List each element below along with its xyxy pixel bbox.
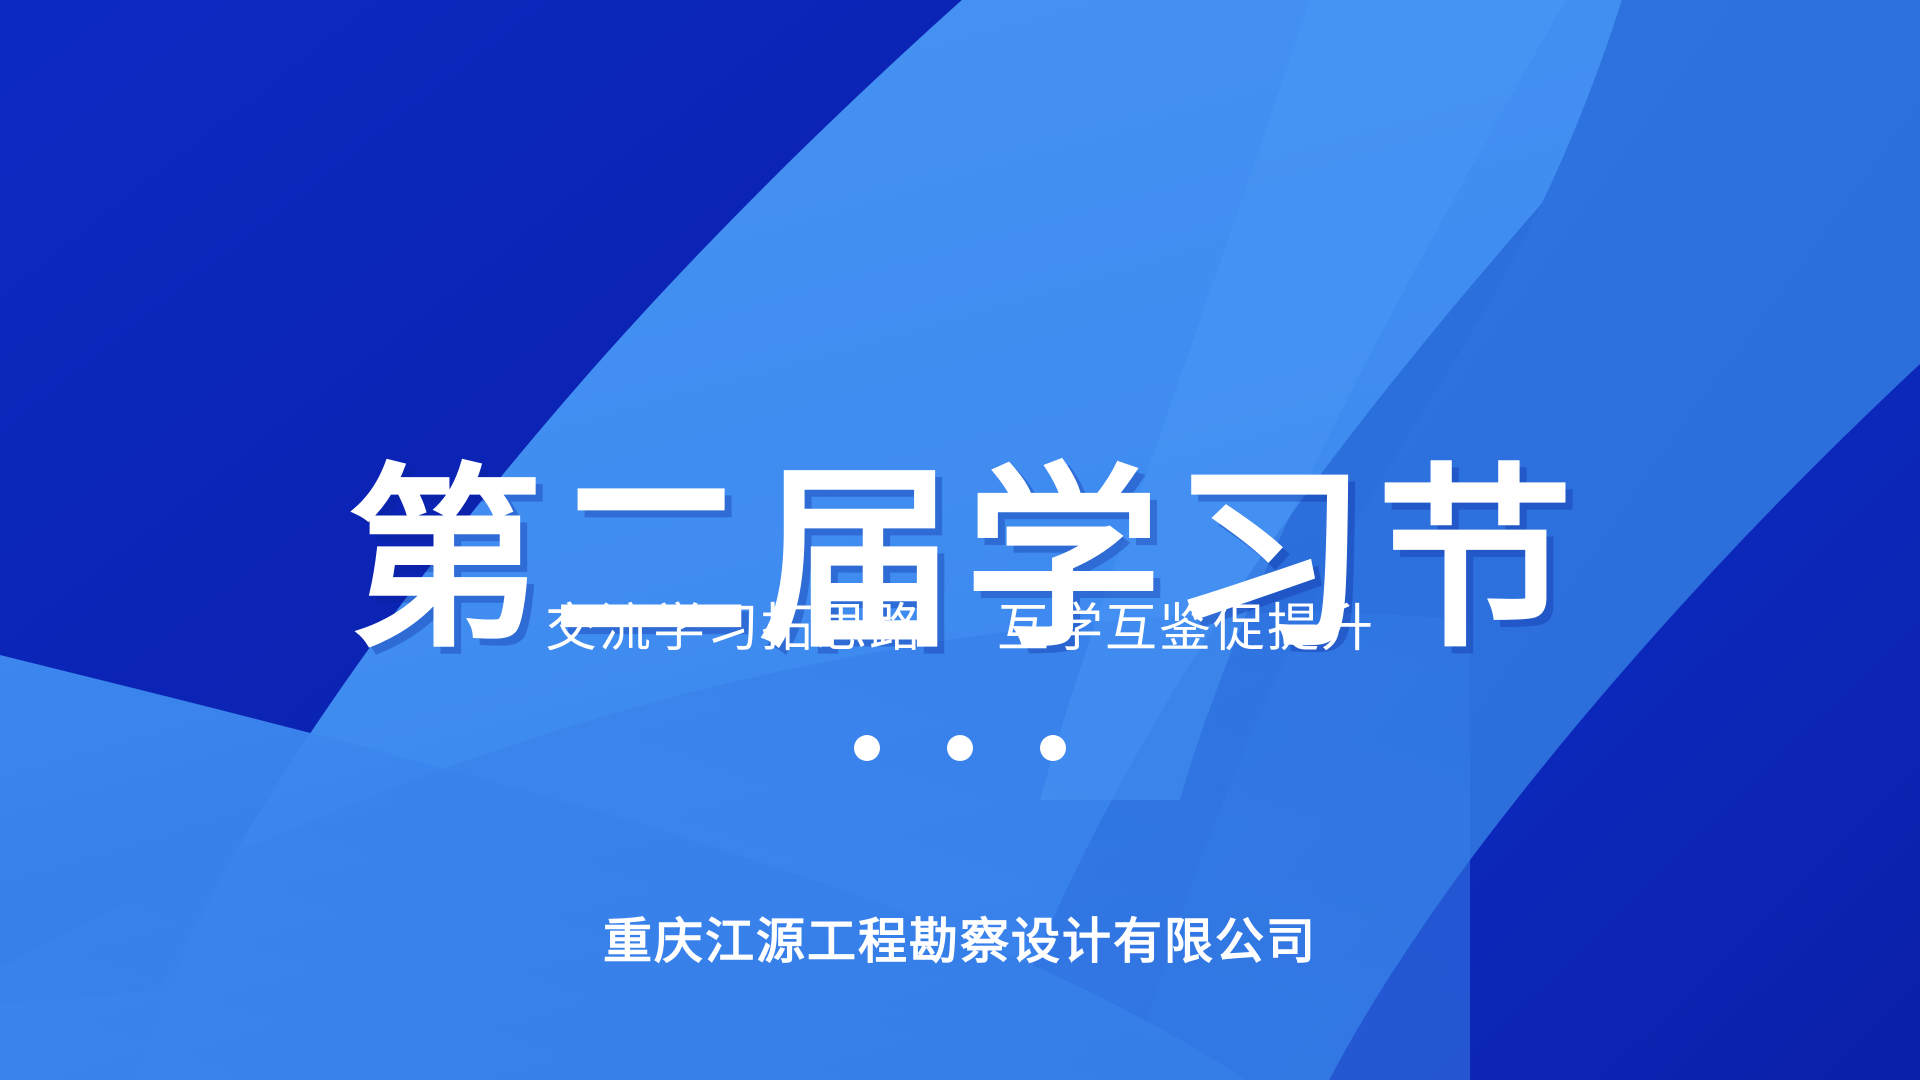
subtitle-left: 交流学习拓思路 <box>545 600 923 658</box>
poster-content: 第二届学习节 交流学习拓思路互学互鉴促提升 重庆江源工程勘察设计有限公司 <box>0 0 1920 1080</box>
dot-icon <box>1040 735 1066 761</box>
subtitle-right: 互学互鉴促提升 <box>997 600 1375 658</box>
dot-icon <box>947 735 973 761</box>
subtitle-line: 交流学习拓思路互学互鉴促提升 <box>0 598 1920 660</box>
dot-icon <box>854 735 880 761</box>
company-name: 重庆江源工程勘察设计有限公司 <box>0 913 1920 972</box>
poster-canvas: 第二届学习节 交流学习拓思路互学互鉴促提升 重庆江源工程勘察设计有限公司 <box>0 0 1920 1080</box>
three-dots-divider <box>0 735 1920 761</box>
